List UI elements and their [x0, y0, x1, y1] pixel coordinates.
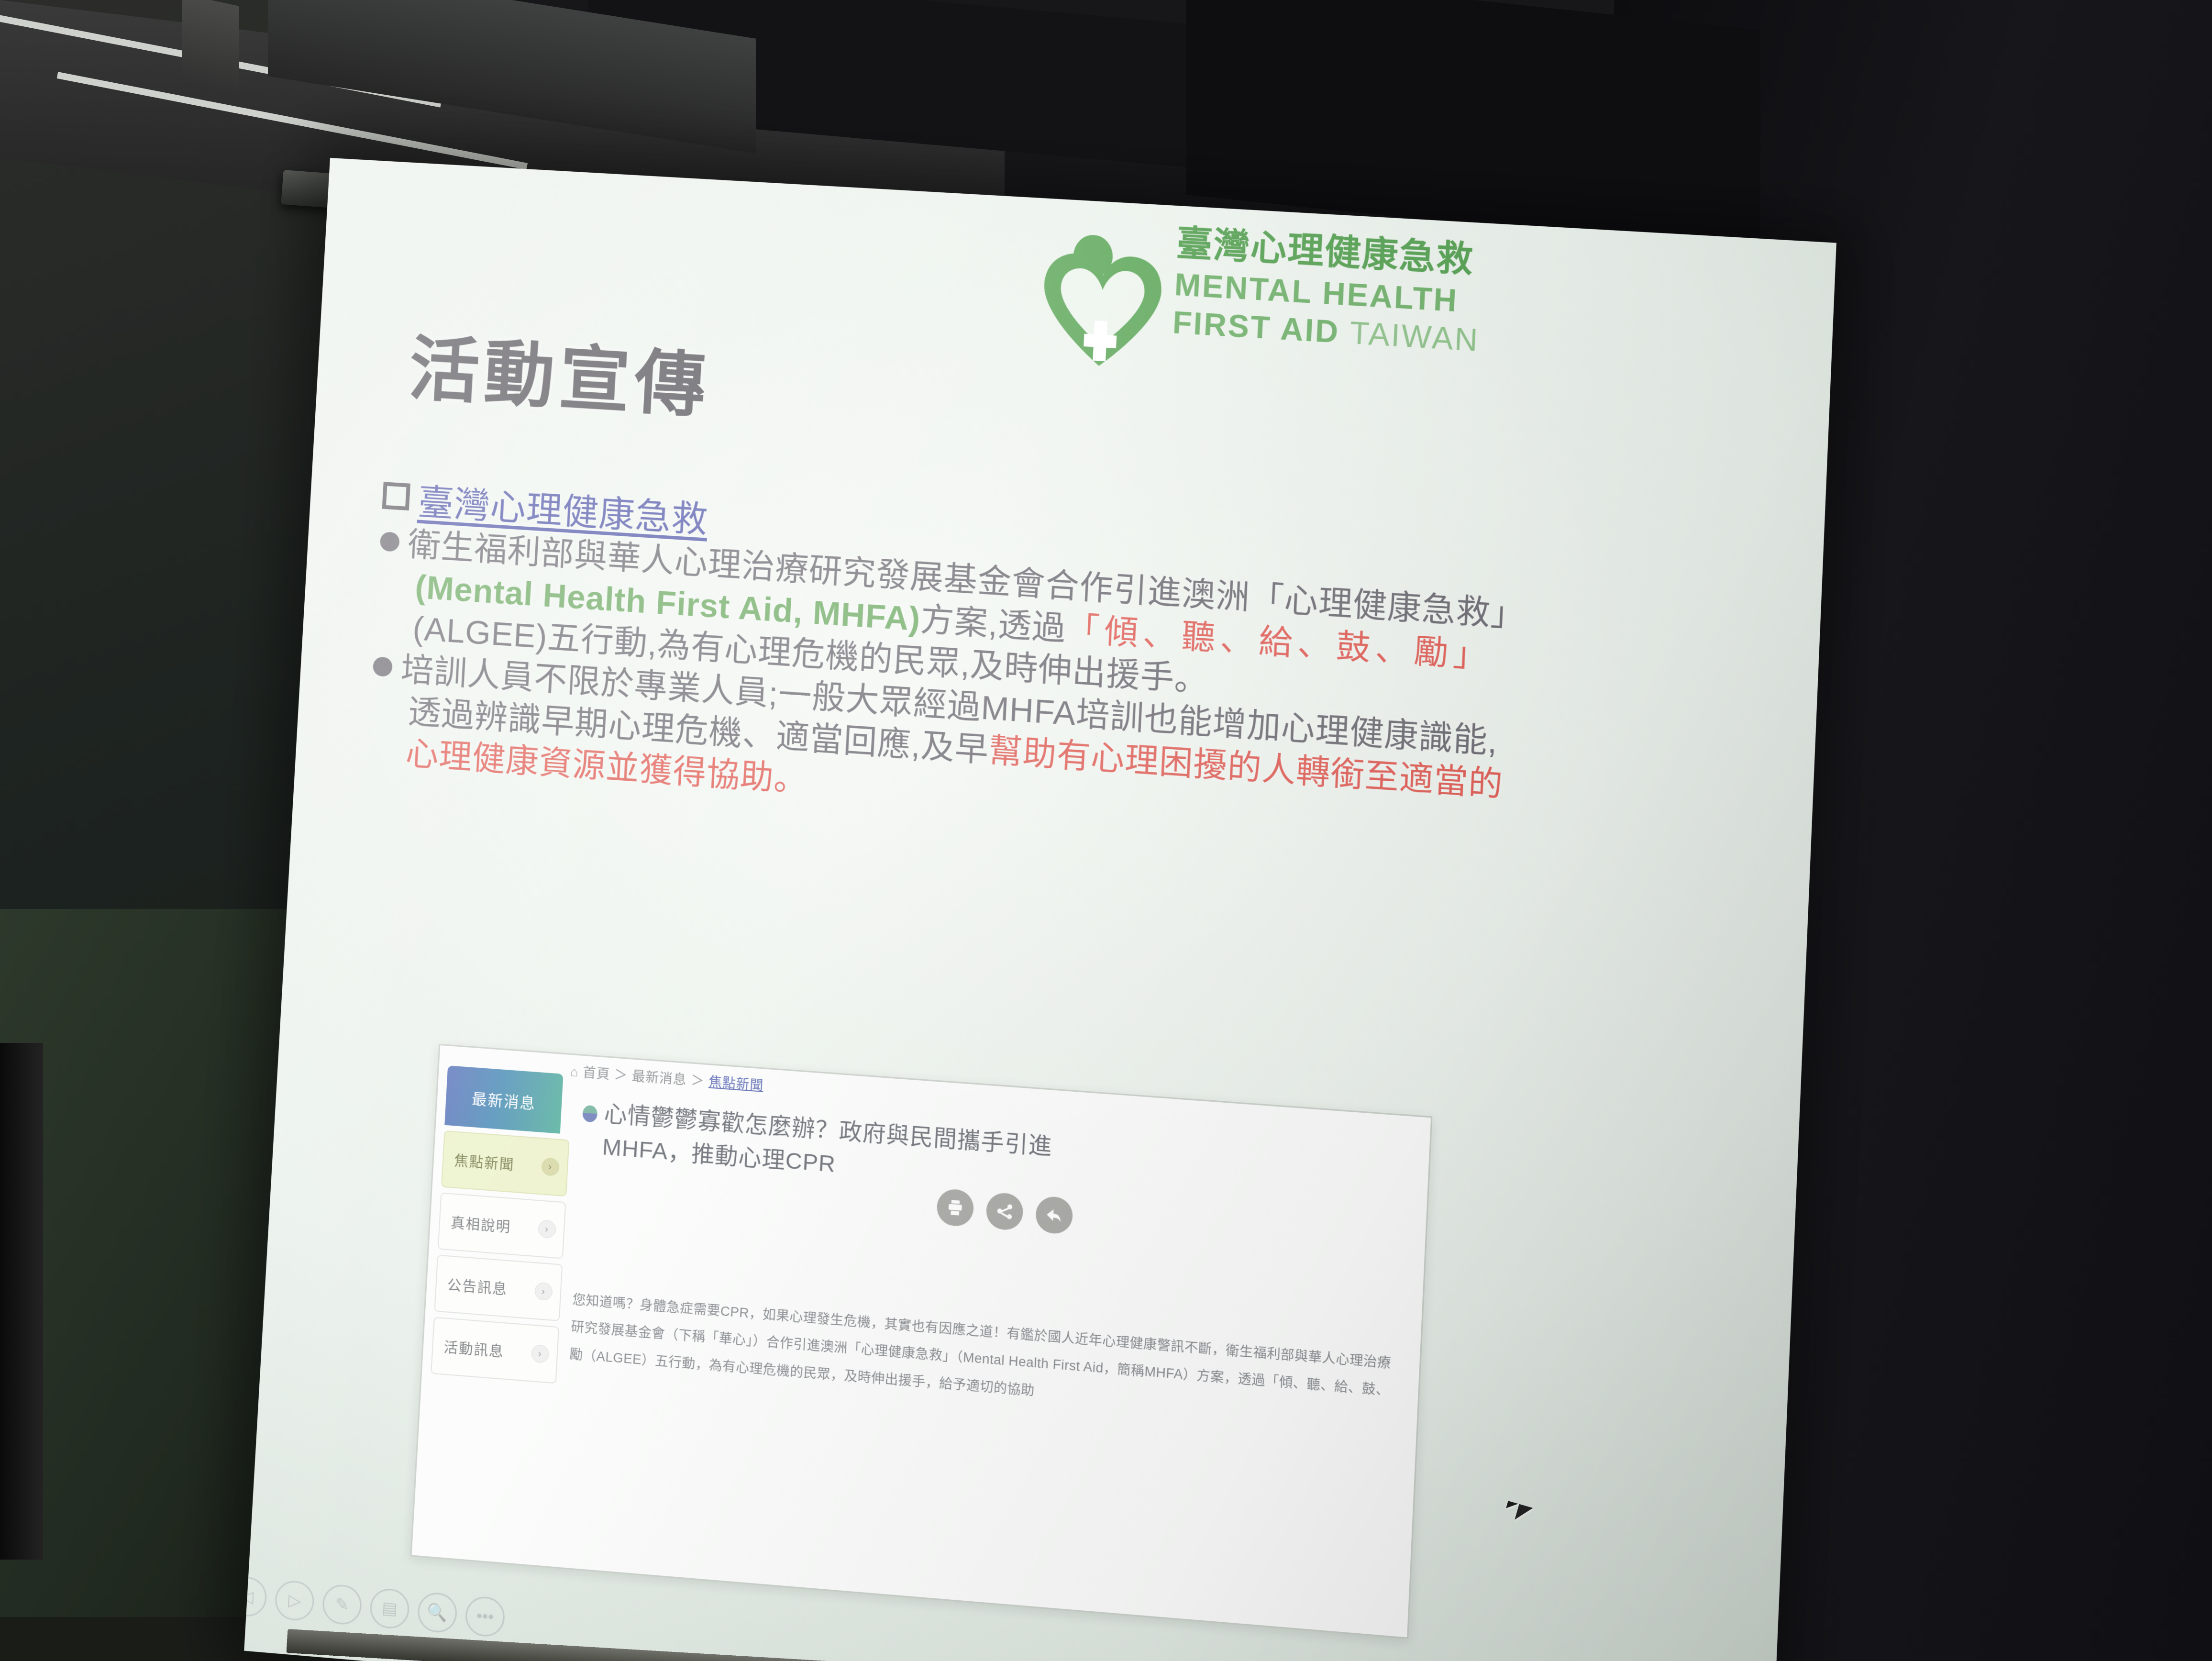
share-icon[interactable]: [985, 1192, 1024, 1231]
all-slides-button[interactable]: ▤: [369, 1587, 410, 1630]
sidebar-item-fact-check[interactable]: 真相說明 ›: [438, 1193, 566, 1259]
back-icon[interactable]: [1035, 1196, 1073, 1235]
breadcrumb-home[interactable]: 首頁: [583, 1065, 611, 1082]
breadcrumb: ⌂ 首頁 ＞ 最新消息 ＞ 焦點新聞: [570, 1061, 764, 1094]
more-options-button[interactable]: •••: [465, 1595, 506, 1638]
website-sidebar: 最新消息 焦點新聞 › 真相說明 › 公告訊息 › 活動訊息 ›: [431, 1065, 564, 1383]
slide-title: 活動宣傳: [407, 311, 713, 431]
presenter-toolbar: ◁ ▷ ✎ ▤ 🔍 •••: [244, 1575, 506, 1638]
next-slide-button[interactable]: ▷: [274, 1579, 315, 1622]
sidebar-item-label: 焦點新聞: [453, 1150, 515, 1174]
article-bullet-icon: [582, 1105, 597, 1123]
breadcrumb-separator: ＞: [614, 1067, 628, 1083]
article-fade-overlay: [412, 1520, 1409, 1637]
sidebar-item-label: 真相說明: [450, 1211, 511, 1237]
round-bullet-icon: [380, 532, 400, 552]
projected-slide-photo: 臺灣心理健康急救 MENTAL HEALTH FIRST AID TAIWAN …: [0, 0, 2212, 1661]
print-icon[interactable]: [936, 1188, 974, 1227]
sidebar-item-focus-news[interactable]: 焦點新聞 ›: [441, 1130, 569, 1196]
article-paragraph: 您知道嗎？身體急症需要CPR，如果心理發生危機，其實也有因應之道！有鑑於國人近年…: [569, 1286, 1395, 1433]
previous-slide-button[interactable]: ◁: [244, 1575, 267, 1618]
ceiling-beam: [182, 0, 239, 97]
printer-glyph: [945, 1197, 965, 1218]
sidebar-header: 最新消息: [444, 1065, 563, 1133]
chevron-right-icon: ›: [538, 1219, 556, 1239]
pen-tool-button[interactable]: ✎: [321, 1583, 363, 1626]
chevron-right-icon: ›: [531, 1344, 550, 1363]
heart-person-cross-icon: [1038, 232, 1167, 370]
bullet-1-cont-text: 方案,透過: [919, 601, 1067, 647]
share-glyph: [994, 1201, 1015, 1222]
breadcrumb-separator: ＞: [690, 1073, 705, 1089]
sidebar-item-announcements[interactable]: 公告訊息 ›: [434, 1255, 563, 1321]
breadcrumb-current[interactable]: 焦點新聞: [708, 1074, 764, 1093]
mhfa-taiwan-logo: 臺灣心理健康急救 MENTAL HEALTH FIRST AID TAIWAN: [1031, 212, 1574, 414]
left-post: [0, 1043, 43, 1560]
chevron-right-icon: ›: [541, 1157, 560, 1176]
breadcrumb-level2[interactable]: 最新消息: [631, 1069, 687, 1087]
embedded-website-screenshot: ⌂ 首頁 ＞ 最新消息 ＞ 焦點新聞 最新消息 焦點新聞 › 真相說明 › 公告…: [410, 1044, 1432, 1639]
chevron-right-icon: ›: [534, 1282, 553, 1301]
square-bullet-icon: [382, 482, 410, 510]
round-bullet-icon: [373, 656, 393, 677]
reply-arrow-glyph: [1044, 1205, 1065, 1226]
zoom-button[interactable]: 🔍: [417, 1591, 458, 1634]
home-icon: ⌂: [570, 1064, 579, 1080]
sidebar-item-label: 活動訊息: [443, 1336, 505, 1361]
logo-first-aid-text: FIRST AID: [1172, 305, 1340, 350]
powerpoint-slide: 臺灣心理健康急救 MENTAL HEALTH FIRST AID TAIWAN …: [244, 158, 1836, 1661]
sidebar-item-events[interactable]: 活動訊息 ›: [431, 1317, 559, 1384]
sidebar-item-label: 公告訊息: [447, 1273, 508, 1299]
slide-body: 臺灣心理健康急救 衛生福利部與華人心理治療研究發展基金會合作引進澳洲「心理健康急…: [367, 478, 1797, 870]
projection-screen: 臺灣心理健康急救 MENTAL HEALTH FIRST AID TAIWAN …: [244, 158, 1836, 1661]
logo-taiwan-text: TAIWAN: [1349, 315, 1480, 358]
